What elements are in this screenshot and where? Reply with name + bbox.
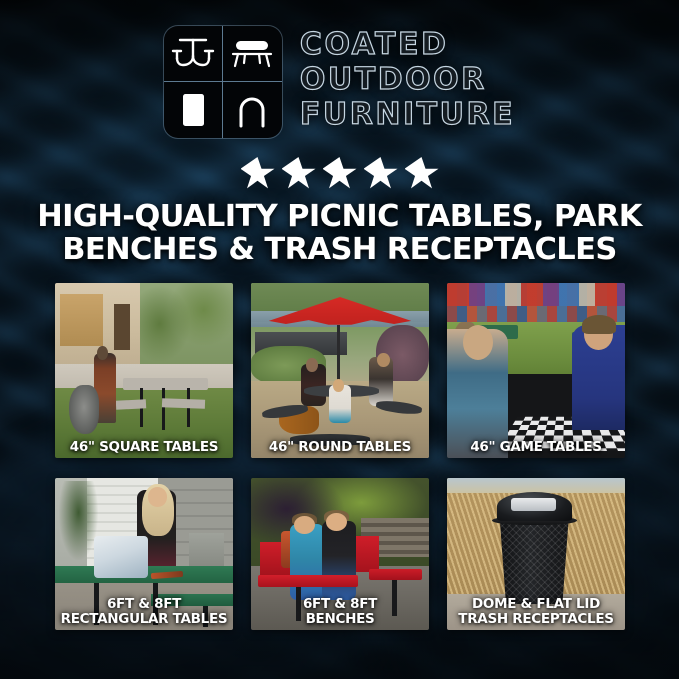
product-photo <box>447 283 625 458</box>
brand-name-line-1: COATED <box>300 28 515 61</box>
tile-caption: 46" SQUARE TABLES <box>57 440 231 455</box>
star-icon <box>282 157 316 190</box>
caption-line: 6FT & 8FT <box>253 597 427 612</box>
tile-caption: DOME & FLAT LID TRASH RECEPTACLES <box>449 597 623 626</box>
trash-receptacle-icon <box>164 82 223 138</box>
logo-icon-grid <box>164 26 282 138</box>
headline-line-1: HIGH-QUALITY PICNIC TABLES, PARK <box>37 199 642 234</box>
product-tile-trash-receptacles[interactable]: DOME & FLAT LID TRASH RECEPTACLES <box>447 478 625 630</box>
brand-name-line-3: FURNITURE <box>300 98 515 131</box>
product-tile-benches[interactable]: 6FT & 8FT BENCHES <box>251 478 429 630</box>
brand-name-line-2: OUTDOOR <box>300 63 515 96</box>
product-tile-game-tables[interactable]: 46" GAME TABLES <box>447 283 625 458</box>
product-tile-rectangular-tables[interactable]: 6FT & 8FT RECTANGULAR TABLES <box>55 478 233 630</box>
product-tile-round-tables[interactable]: 46" ROUND TABLES <box>251 283 429 458</box>
product-photo <box>55 283 233 458</box>
star-icon <box>405 157 439 190</box>
tile-caption: 46" ROUND TABLES <box>253 440 427 455</box>
star-rating <box>0 157 679 190</box>
brand-logo: COATED OUTDOOR FURNITURE <box>0 26 679 138</box>
star-icon <box>241 157 275 190</box>
caption-line: 46" SQUARE TABLES <box>57 440 231 455</box>
tile-caption: 6FT & 8FT BENCHES <box>253 597 427 626</box>
caption-line: 6FT & 8FT <box>57 597 231 612</box>
picnic-table-icon <box>164 26 223 82</box>
product-tile-grid: 46" SQUARE TABLES <box>55 283 625 630</box>
product-photo <box>251 283 429 458</box>
tile-caption: 6FT & 8FT RECTANGULAR TABLES <box>57 597 231 626</box>
advertisement-banner: COATED OUTDOOR FURNITURE HIGH-QUALITY PI… <box>0 0 679 679</box>
star-icon <box>364 157 398 190</box>
arch-bike-rack-icon <box>223 82 282 138</box>
caption-line: BENCHES <box>253 612 427 627</box>
bench-icon <box>223 26 282 82</box>
caption-line: DOME & FLAT LID <box>449 597 623 612</box>
headline: HIGH-QUALITY PICNIC TABLES, PARK BENCHES… <box>28 200 651 266</box>
caption-line: 46" ROUND TABLES <box>253 440 427 455</box>
tile-caption: 46" GAME TABLES <box>449 440 623 455</box>
caption-line: 46" GAME TABLES <box>449 440 623 455</box>
headline-line-2: BENCHES & TRASH RECEPTACLES <box>28 233 651 266</box>
star-icon <box>323 157 357 190</box>
caption-line: RECTANGULAR TABLES <box>57 612 231 627</box>
product-tile-square-tables[interactable]: 46" SQUARE TABLES <box>55 283 233 458</box>
brand-name: COATED OUTDOOR FURNITURE <box>300 26 515 131</box>
caption-line: TRASH RECEPTACLES <box>449 612 623 627</box>
